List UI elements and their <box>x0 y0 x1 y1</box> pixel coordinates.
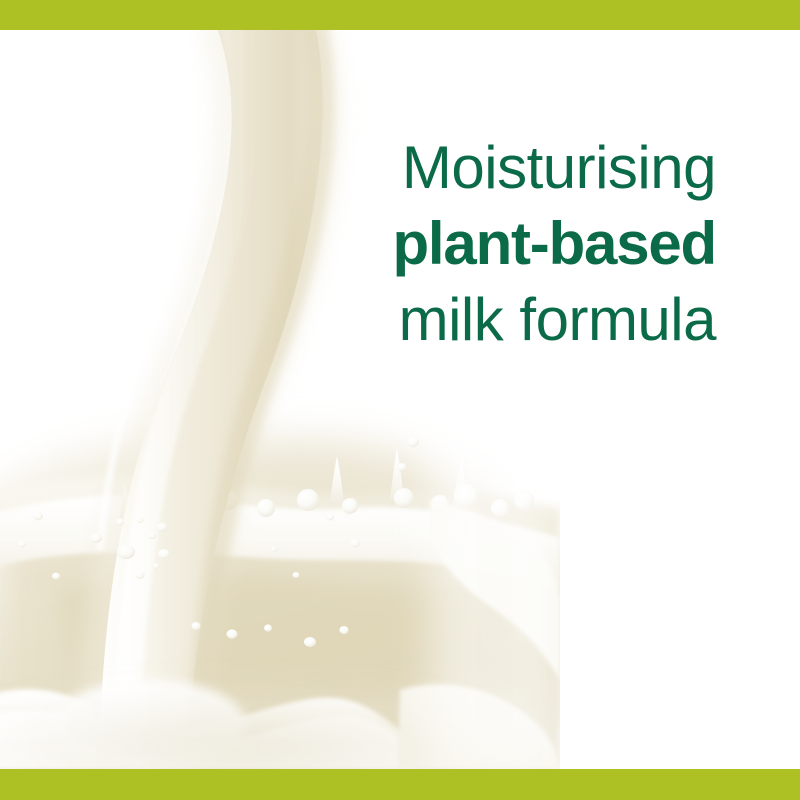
product-feature-banner: Moisturising plant-based milk formula <box>0 0 800 800</box>
headline-line-1: Moisturising <box>392 138 716 198</box>
bottom-lime-bar <box>0 769 800 800</box>
top-lime-bar <box>0 0 800 30</box>
headline-line-3: milk formula <box>392 290 716 350</box>
headline-line-2-emphasis: plant-based <box>392 214 716 274</box>
headline-block: Moisturising plant-based milk formula <box>392 138 716 350</box>
